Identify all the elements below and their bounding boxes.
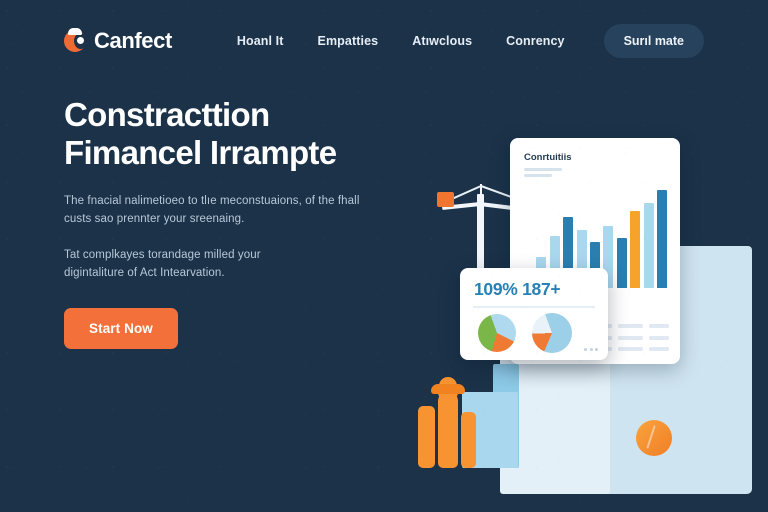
construction-worker-icon	[418, 376, 500, 468]
chart-title: Conrtuitiis	[524, 152, 572, 163]
header-cta-button[interactable]: Surıl mate	[604, 24, 704, 58]
bar-8	[617, 238, 627, 288]
hero-paragraph-2: Tat complkayes torandage milled your dig…	[64, 246, 314, 283]
table-cell	[649, 347, 669, 351]
pie-chart-icon	[532, 313, 572, 353]
hero-section: Constracttion Fimancel Irrampte The fnac…	[64, 96, 394, 349]
start-now-button[interactable]: Start Now	[64, 308, 178, 349]
headline-line-2: Fimancel Irrampte	[64, 134, 394, 172]
pie-chart-icon	[478, 314, 516, 352]
main-nav: Hoanl It Empatties Atıwclous Conrency	[237, 34, 565, 48]
headline-line-1: Constracttion	[64, 96, 269, 133]
bar-11	[657, 190, 667, 288]
brand-name: Canfect	[94, 28, 172, 54]
stats-card: 109% 187+	[460, 268, 608, 360]
table-cell	[618, 347, 644, 351]
brand-logo[interactable]: Canfect	[64, 28, 172, 54]
pie-legend-dots	[584, 348, 598, 351]
stats-value: 109% 187+	[474, 279, 560, 300]
table-cell	[618, 336, 644, 340]
hero-paragraph-1: The fnacial nalimetioeo to tlıe meconstu…	[64, 192, 370, 229]
circle-c-logo-icon	[64, 30, 86, 52]
divider	[473, 306, 595, 308]
table-cell	[649, 336, 669, 340]
bar-10	[644, 203, 654, 288]
orange-sphere-icon	[636, 420, 672, 456]
site-header: Canfect Hoanl It Empatties Atıwclous Con…	[0, 0, 768, 82]
table-cell	[618, 324, 644, 328]
nav-item-0[interactable]: Hoanl It	[237, 34, 284, 48]
nav-item-2[interactable]: Atıwclous	[412, 34, 472, 48]
page-title: Constracttion Fimancel Irrampte	[64, 96, 394, 173]
table-cell	[649, 324, 669, 328]
hero-illustration: Conrtuitiis Deweli 109% 187+	[400, 110, 768, 512]
nav-item-1[interactable]: Empatties	[318, 34, 379, 48]
bar-9	[630, 211, 640, 288]
nav-item-3[interactable]: Conrency	[506, 34, 564, 48]
